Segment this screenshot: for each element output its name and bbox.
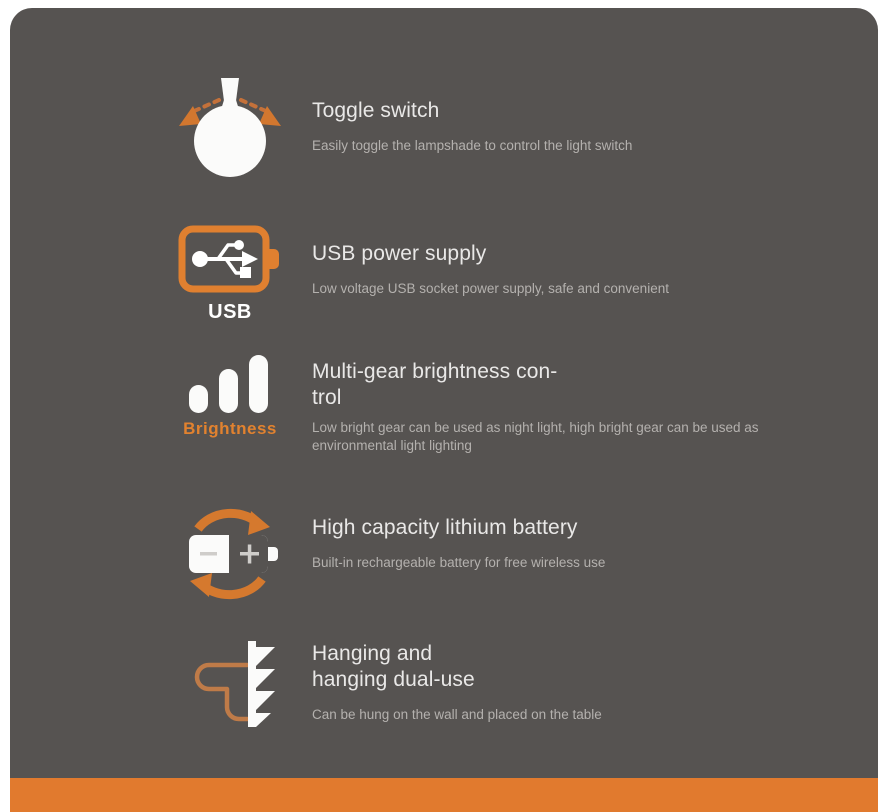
icon-cell [160, 633, 300, 733]
text-cell: Multi-gear brightness con- trol Low brig… [300, 353, 878, 455]
feature-description: Low bright gear can be used as night lig… [312, 419, 764, 455]
text-cell: Hanging and hanging dual-use Can be hung… [300, 633, 878, 724]
feature-title: High capacity lithium battery [312, 515, 878, 541]
text-cell: USB power supply Low voltage USB socket … [300, 223, 878, 298]
wall-hook-icon [175, 633, 285, 733]
brightness-bars-icon [175, 353, 285, 413]
feature-row-hanging-dual-use: Hanging and hanging dual-use Can be hung… [10, 633, 878, 733]
feature-title: Hanging and hanging dual-use [312, 641, 878, 693]
text-cell: Toggle switch Easily toggle the lampshad… [300, 68, 878, 155]
feature-card: Toggle switch Easily toggle the lampshad… [10, 8, 878, 812]
icon-cell [160, 68, 300, 190]
bottom-orange-bar [10, 778, 878, 812]
feature-title: USB power supply [312, 241, 878, 267]
text-cell: High capacity lithium battery Built-in r… [300, 503, 878, 572]
feature-row-lithium-battery: High capacity lithium battery Built-in r… [10, 503, 878, 603]
feature-title: Multi-gear brightness con- trol [312, 359, 878, 411]
feature-description: Low voltage USB socket power supply, saf… [312, 280, 762, 298]
feature-row-toggle-switch: Toggle switch Easily toggle the lampshad… [10, 68, 878, 190]
feature-title: Toggle switch [312, 98, 878, 124]
icon-cell: Brightness [160, 353, 300, 439]
rechargeable-battery-icon [176, 503, 284, 603]
feature-description: Can be hung on the wall and placed on th… [312, 706, 762, 724]
feature-description: Built-in rechargeable battery for free w… [312, 554, 762, 572]
feature-description: Easily toggle the lampshade to control t… [312, 137, 762, 155]
icon-caption: Brightness [183, 419, 277, 439]
usb-battery-icon [178, 223, 282, 295]
lampshade-toggle-icon [169, 68, 291, 190]
icon-cell [160, 503, 300, 603]
icon-caption: USB [208, 301, 252, 324]
feature-row-brightness-control: Brightness Multi-gear brightness con- tr… [10, 353, 878, 455]
feature-row-usb-power-supply: USB USB power supply Low voltage USB soc… [10, 223, 878, 324]
icon-cell: USB [160, 223, 300, 324]
